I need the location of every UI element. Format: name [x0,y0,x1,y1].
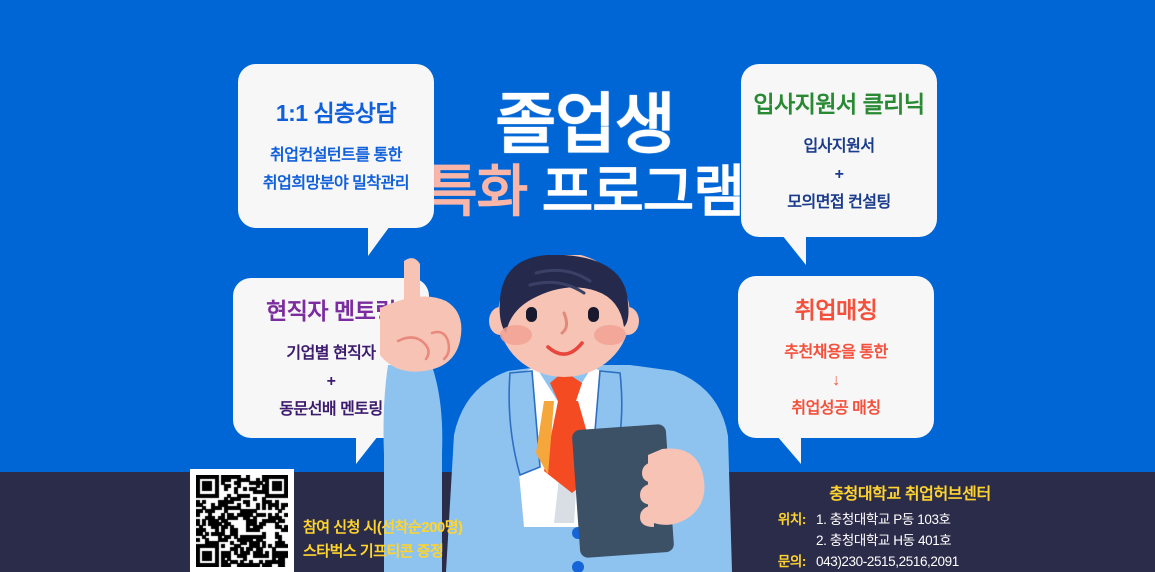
contact-inquiry-value[interactable]: 043)230-2515,2516,2091 [816,552,959,572]
bubble-clinic-line-2: + [787,161,891,189]
contact-location-2: 2. 충청대학교 H동 401호 [816,531,951,552]
bubble-matching-line-2: ↓ [784,367,888,395]
bubble-matching-body: 추천채용을 통한 ↓ 취업성공 매칭 [784,339,888,423]
contact-location-1: 1. 충청대학교 P동 103호 [816,510,951,531]
bubble-clinic-line-1: 입사지원서 [787,133,891,161]
title-line-1: 졸업생 [420,92,750,157]
contact-inquiry-row: 문의: 043)230-2515,2516,2091 [760,552,1060,572]
contact-block: 충청대학교 취업허브센터 위치: 1. 충청대학교 P동 103호 2. 충청대… [760,480,1060,572]
contact-org: 충청대학교 취업허브센터 [760,480,1060,504]
gift-line-2: 스타벅스 기프티콘 증정 [303,540,513,564]
gift-line-1: 참여 신청 시(선착순200명) [303,516,513,540]
bubble-mentoring-body: 기업별 현직자 + 동문선배 멘토링 [279,340,383,424]
contact-inquiry-label: 문의: [760,552,806,572]
bubble-matching-line-3: 취업성공 매칭 [784,395,888,423]
bubble-clinic-line-3: 모의면접 컨설팅 [787,189,891,217]
title-line-2: 특화 프로그램 [420,165,750,220]
gift-notice: 참여 신청 시(선착순200명) 스타벅스 기프티콘 증정 [303,516,513,564]
bubble-consult-line-2: 취업희망분야 밀착관리 [263,170,409,198]
bubble-clinic[interactable]: 입사지원서 클리닉 입사지원서 + 모의면접 컨설팅 [741,64,937,237]
title-rest: 프로그램 [527,160,744,223]
bubble-consult-tail [368,226,390,256]
title-highlight: 특화 [426,160,527,223]
bubble-clinic-title: 입사지원서 클리닉 [753,85,924,119]
contact-location-row-2: 2. 충청대학교 H동 401호 [760,531,1060,552]
bubble-clinic-body: 입사지원서 + 모의면접 컨설팅 [787,133,891,217]
bubble-consult-line-1: 취업컨설턴트를 통한 [263,142,409,170]
poster-canvas: 졸업생 특화 프로그램 1:1 심층상담 취업컨설턴트를 통한 취업희망분야 밀… [0,0,1155,572]
bubble-consult[interactable]: 1:1 심층상담 취업컨설턴트를 통한 취업희망분야 밀착관리 [238,64,434,228]
page-title: 졸업생 특화 프로그램 [420,92,750,220]
bubble-mentoring-line-3: 동문선배 멘토링 [279,396,383,424]
bubble-consult-title: 1:1 심층상담 [276,94,396,128]
bubble-mentoring-line-2: + [279,368,383,396]
bubble-clinic-tail [782,235,806,265]
qr-code-image [196,475,288,567]
bubble-matching-title: 취업매칭 [795,291,878,325]
bubble-matching-line-1: 추천채용을 통한 [784,339,888,367]
bubble-mentoring-title: 현직자 멘토링 [266,292,396,326]
bubble-consult-body: 취업컨설턴트를 통한 취업희망분야 밀착관리 [263,142,409,198]
bubble-mentoring-tail [356,436,378,464]
contact-location-label: 위치: [760,510,806,531]
contact-location-row-1: 위치: 1. 충청대학교 P동 103호 [760,510,1060,531]
qr-code[interactable] [190,469,294,572]
bubble-mentoring-line-1: 기업별 현직자 [279,340,383,368]
bubble-matching-tail [777,436,801,464]
bubble-matching[interactable]: 취업매칭 추천채용을 통한 ↓ 취업성공 매칭 [738,276,934,438]
